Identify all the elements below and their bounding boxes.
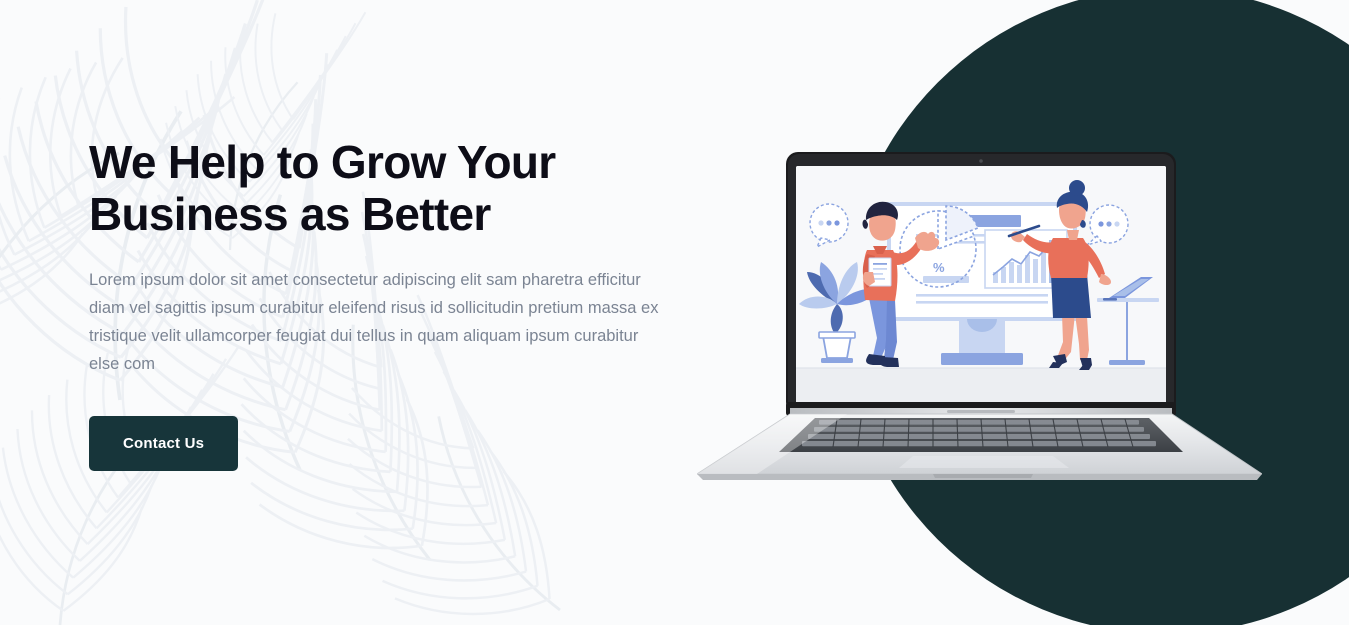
screen-illustration: %: [796, 166, 1166, 406]
key-row-1: [819, 420, 1139, 425]
key-row-2: [814, 427, 1144, 432]
key-row-4: [802, 441, 1156, 446]
hero-paragraph: Lorem ipsum dolor sit amet consectetur a…: [89, 266, 664, 378]
hero-content: We Help to Grow Your Business as Better …: [89, 136, 689, 471]
headline-line-1: We Help to Grow Your: [89, 136, 556, 188]
contact-us-button[interactable]: Contact Us: [89, 416, 238, 471]
hero-section: We Help to Grow Your Business as Better …: [0, 0, 1349, 625]
percent-symbol: %: [933, 260, 945, 275]
laptop-illustration: %: [697, 146, 1262, 481]
headline-line-2: Business as Better: [89, 188, 609, 240]
page-title: We Help to Grow Your Business as Better: [89, 136, 609, 240]
laptop-base: [697, 414, 1262, 480]
